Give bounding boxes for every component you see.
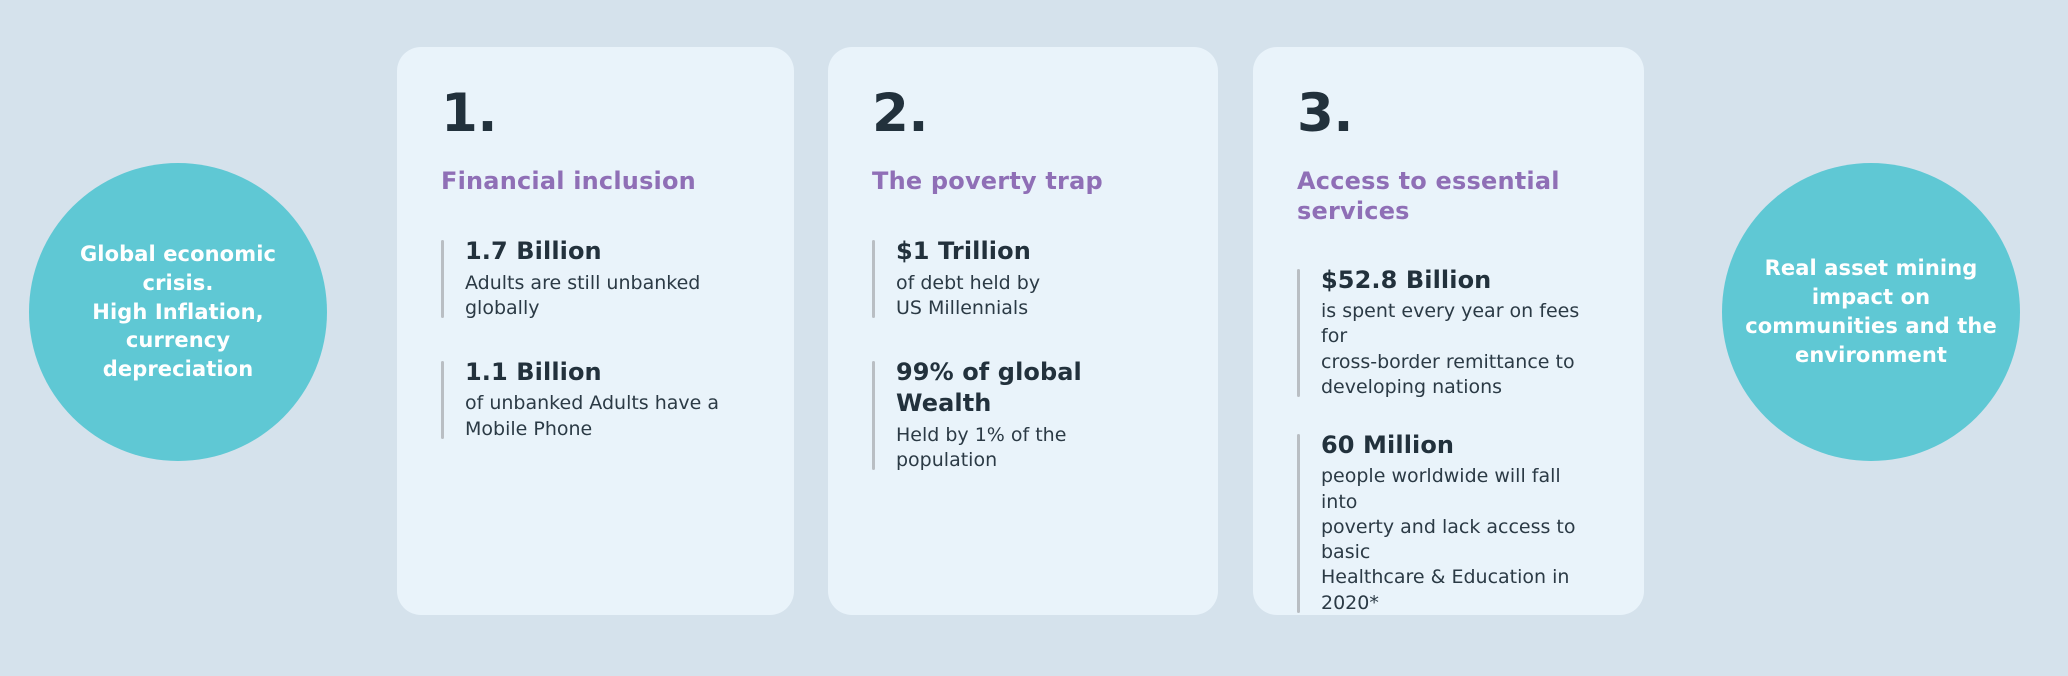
card-2-stats: $1 Trillion of debt held by US Millennia… <box>872 236 1174 473</box>
stat-value: $52.8 Billion <box>1321 265 1600 296</box>
stat-item: 99% of global Wealth Held by 1% of the p… <box>872 357 1174 473</box>
card-1-number: 1. <box>441 87 750 140</box>
card-poverty-trap: 2. The poverty trap $1 Trillion of debt … <box>828 47 1218 615</box>
stat-description: is spent every year on fees for cross-bo… <box>1321 299 1600 400</box>
stat-description: Adults are still unbanked globally <box>465 271 750 322</box>
stat-description: people worldwide will fall into poverty … <box>1321 464 1600 616</box>
stat-item: $1 Trillion of debt held by US Millennia… <box>872 236 1174 321</box>
stat-item: 1.7 Billion Adults are still unbanked gl… <box>441 236 750 321</box>
stat-item: 1.1 Billion of unbanked Adults have a Mo… <box>441 357 750 442</box>
accent-bar-icon <box>872 361 875 470</box>
stat-description: of debt held by US Millennials <box>896 271 1174 322</box>
accent-bar-icon <box>872 240 875 318</box>
card-3-stats: $52.8 Billion is spent every year on fee… <box>1297 265 1600 616</box>
card-3-title: Access to essential services <box>1297 166 1600 227</box>
stat-item: $52.8 Billion is spent every year on fee… <box>1297 265 1600 400</box>
circle-real-asset-mining-impact: Real asset mining impact on communities … <box>1722 163 2020 461</box>
stat-description: of unbanked Adults have a Mobile Phone <box>465 391 750 442</box>
stat-value: 60 Million <box>1321 430 1600 461</box>
accent-bar-icon <box>1297 434 1300 613</box>
stat-value: $1 Trillion <box>896 236 1174 267</box>
card-access-to-essential-services: 3. Access to essential services $52.8 Bi… <box>1253 47 1644 615</box>
accent-bar-icon <box>441 361 444 439</box>
card-3-number: 3. <box>1297 87 1600 140</box>
stat-value: 1.7 Billion <box>465 236 750 267</box>
accent-bar-icon <box>441 240 444 318</box>
card-financial-inclusion: 1. Financial inclusion 1.7 Billion Adult… <box>397 47 794 615</box>
stat-description: Held by 1% of the population <box>896 423 1174 474</box>
circle-left-label: Global economic crisis. High Inflation, … <box>29 240 327 385</box>
accent-bar-icon <box>1297 269 1300 397</box>
card-1-stats: 1.7 Billion Adults are still unbanked gl… <box>441 236 750 441</box>
infographic-canvas: Global economic crisis. High Inflation, … <box>0 0 2068 676</box>
card-2-number: 2. <box>872 87 1174 140</box>
stat-item: 60 Million people worldwide will fall in… <box>1297 430 1600 616</box>
card-1-title: Financial inclusion <box>441 166 750 196</box>
circle-right-label: Real asset mining impact on communities … <box>1727 254 2015 370</box>
stat-value: 1.1 Billion <box>465 357 750 388</box>
circle-global-economic-crisis: Global economic crisis. High Inflation, … <box>29 163 327 461</box>
card-2-title: The poverty trap <box>872 166 1174 196</box>
stat-value: 99% of global Wealth <box>896 357 1174 419</box>
